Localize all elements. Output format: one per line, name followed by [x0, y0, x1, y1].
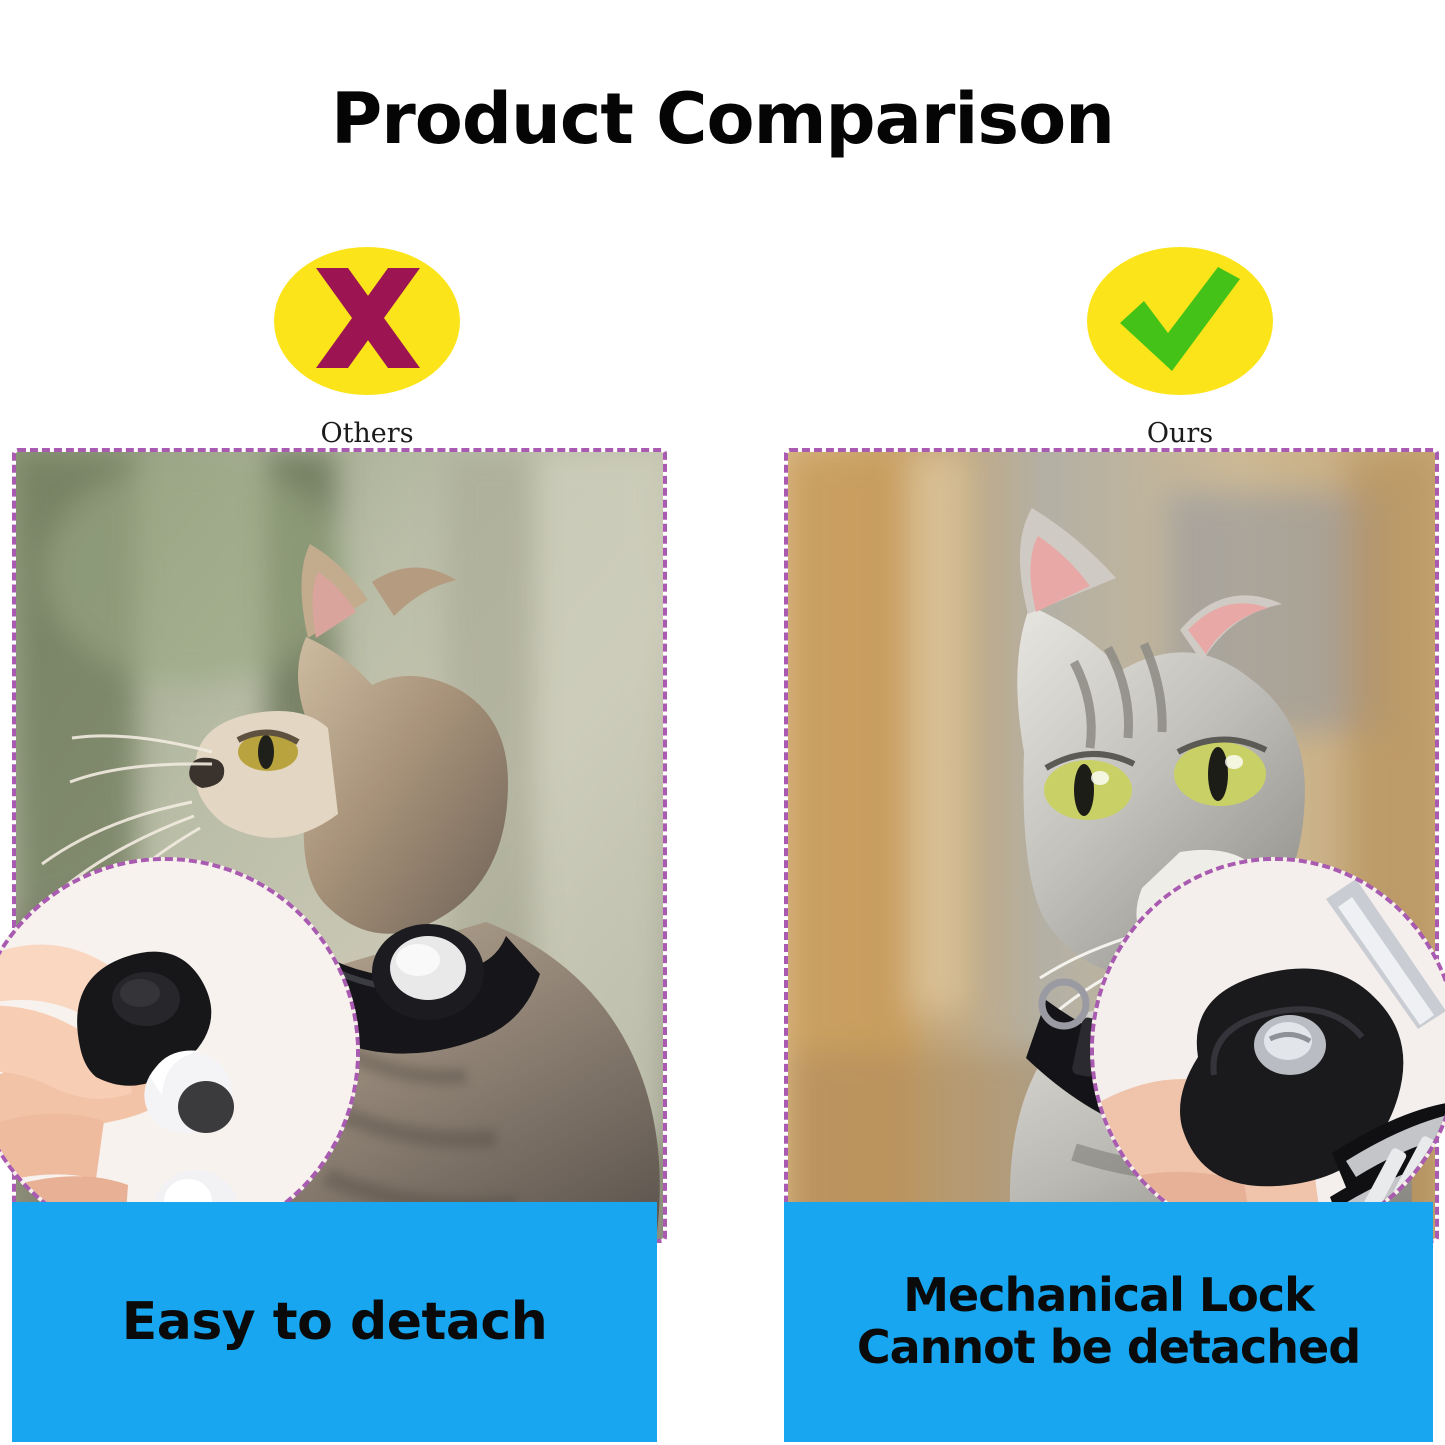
caption-ours-line2: Cannot be detached — [857, 1322, 1360, 1374]
product-comparison-image: Product Comparison Others Ours — [0, 0, 1445, 1445]
badge-label-others: Others — [247, 418, 487, 449]
badge-label-ours: Ours — [1060, 418, 1300, 449]
caption-others: Easy to detach — [12, 1202, 657, 1442]
check-mark-icon — [1110, 261, 1250, 381]
caption-ours: Mechanical Lock Cannot be detached — [784, 1202, 1433, 1442]
inset-ours-mechanical-lock — [1090, 857, 1445, 1242]
caption-ours-line1: Mechanical Lock — [903, 1270, 1313, 1322]
cross-mark-icon — [302, 262, 432, 380]
caption-others-text: Easy to detach — [122, 1292, 548, 1352]
badge-ours — [1087, 247, 1273, 395]
badge-others — [274, 247, 460, 395]
page-title: Product Comparison — [0, 78, 1445, 160]
